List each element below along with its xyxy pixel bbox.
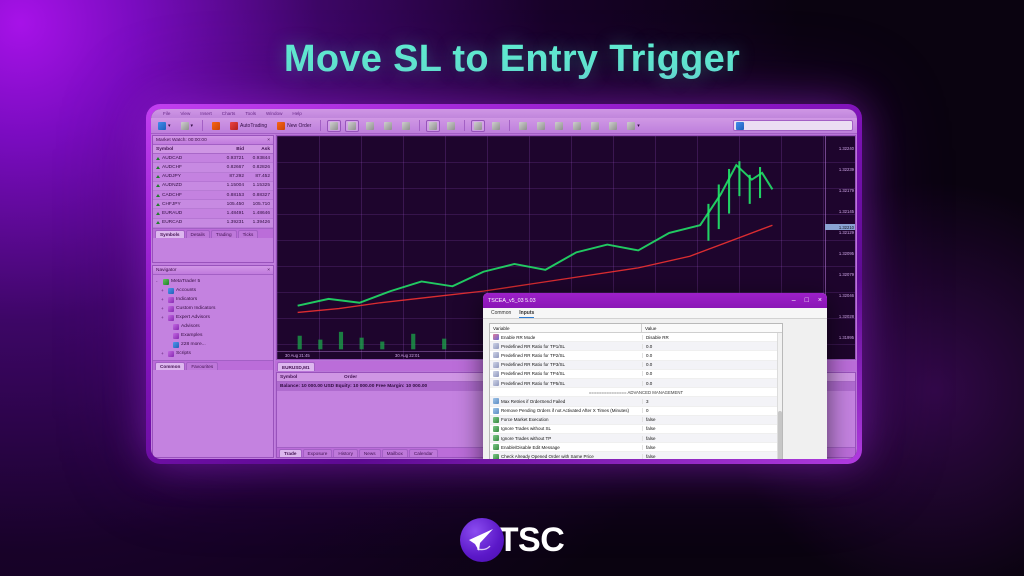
bid-cell: 1.48491 [218,211,244,216]
navigator-root[interactable]: -MetaTrader 5 [156,277,270,286]
navigator-tab-favourites[interactable]: Favourites [186,362,218,370]
type-icon [493,352,499,358]
variable-cell: Predefined RR Ratio for TP1/SL [490,343,642,349]
grid-row[interactable]: Enable RR ModeDisable RR [490,333,782,342]
type-icon [493,343,499,349]
ask-cell: 87.452 [244,174,270,179]
grid-row[interactable]: Predefined RR Ratio for TP2/SL0.0 [490,351,782,360]
variable-label: Enable RR Mode [501,335,535,340]
laptop-frame: FileViewInsertChartsToolsWindowHelp ▾ ▾ … [146,104,862,464]
tsc-logo: TSC [0,518,1024,562]
navigator-tree: -MetaTrader 5+Accounts+Indicators+Custom… [153,275,273,360]
navigator-title-label: Navigator [156,268,177,273]
vertical-line-icon [519,122,527,130]
price-axis: 1.322401.322391.321791.321451.321291.320… [825,136,855,359]
trend-up-icon [156,166,160,169]
variable-cell: Predefined RR Ratio for TP4/SL [490,371,642,377]
trendline-button[interactable] [552,120,566,132]
dialog-title: TSCEA_v5_03 5.03 [488,298,536,304]
dialog-tabs: CommonInputs [483,308,827,319]
market-watch-title-label: Market Watch: 00:00:00 [156,138,207,143]
market-watch-rows: AUDCAD0.937210.93844AUDCHF0.826670.82826… [153,154,273,228]
bar-chart-button[interactable] [327,120,341,132]
time-tick: 30 Aug 22:01 [395,353,420,358]
symbol-cell: AUDCHF [156,165,218,170]
new-order-button[interactable]: New Order [274,120,314,132]
variable-cell: Ignore Trades without SL [490,426,642,432]
variable-label: Predefined RR Ratio for TP2/SL [501,353,565,358]
navigator-item-accounts[interactable]: +Accounts [156,286,270,295]
trend-up-icon [156,221,160,224]
symbol-cell: CHFJPY [156,202,218,207]
autotrading-icon [230,122,238,130]
variable-label: Predefined RR Ratio for TP4/SL [501,371,565,376]
market-watch-tab-trading[interactable]: Trading [211,230,237,238]
variable-label: Enable/Disable Edit Message [501,445,560,450]
zoom-in-icon [384,122,392,130]
paper-plane-icon [460,518,504,562]
chart-icon [158,122,166,130]
time-tick: 30 Aug 21:45 [285,353,310,358]
bar-chart-icon [330,122,338,130]
expand-icon[interactable]: + [161,313,166,322]
column-symbol: Symbol [156,147,218,152]
grid-row[interactable]: Ignore Trades without SLfalse [490,425,782,434]
type-icon [493,444,499,450]
ask-cell: 1.48646 [244,211,270,216]
variable-label: Force Market Execution [501,417,549,422]
market-watch-header: Symbol Bid Ask [153,145,273,154]
grid-rows: Enable RR ModeDisable RRPredefined RR Ra… [490,333,782,459]
variable-cell: Max Retries if OrderSend Failed [490,398,642,404]
dialog-tab-inputs[interactable]: Inputs [519,310,534,318]
autotrading-button[interactable]: AutoTrading [227,120,270,132]
grid-row[interactable]: Remove Pending Orders if not Activated A… [490,407,782,416]
type-icon [493,417,499,423]
variable-label: Ignore Trades without TP [501,436,551,441]
variable-cell: Predefined RR Ratio for TP5/SL [490,380,642,386]
ask-cell: 1.39426 [244,220,270,225]
menu-item-tools[interactable]: Tools [245,111,256,116]
node-icon [168,315,174,321]
trend-up-icon [156,184,160,187]
node-label: Advisors [181,322,200,331]
navigator-item-indicators[interactable]: +Indicators [156,295,270,304]
grid-separator-row[interactable]: =============== ADVANCED MANAGEMENT [490,388,782,397]
node-icon [173,324,179,330]
navigator-tabs: CommonFavourites [153,360,273,370]
value-label: 0.0 [646,381,652,386]
value-label: 0.0 [646,353,652,358]
market-watch-tab-details[interactable]: Details [186,230,210,238]
type-icon [493,454,499,459]
chart-shift-button[interactable] [444,120,458,132]
value-label: false [646,417,656,422]
value-label: 0.0 [646,362,652,367]
vertical-line-button[interactable] [516,120,530,132]
profiles-button[interactable]: ▾ [178,120,197,132]
dialog-tab-common[interactable]: Common [491,310,511,318]
ask-cell: 0.88327 [244,193,270,198]
trendline-icon [555,122,563,130]
market-button[interactable] [209,120,223,132]
trend-up-icon [156,194,160,197]
shapes-button[interactable] [588,120,602,132]
search-input[interactable] [733,120,853,131]
variable-cell: Check Already Opened Order with Same Pri… [490,454,642,459]
node-icon [168,351,174,357]
terminal-tab-mailbox[interactable]: Mailbox [382,449,408,457]
menu-item-file[interactable]: File [163,111,170,116]
terminal-tab-exposure[interactable]: Exposure [303,449,333,457]
toolbar-divider-4 [464,120,465,131]
grid-row[interactable]: Predefined RR Ratio for TP5/SL0.0 [490,379,782,388]
grid-row[interactable]: Enable/Disable Edit Messagefalse [490,443,782,452]
value-cell[interactable]: 0.0 [642,362,782,367]
menu-item-help[interactable]: Help [292,111,301,116]
navigator-tab-common[interactable]: Common [155,362,185,370]
grid-row[interactable]: Ignore Trades without TPfalse [490,434,782,443]
menu-bar: FileViewInsertChartsToolsWindowHelp [151,109,857,118]
type-icon [493,426,499,432]
line-chart-button[interactable] [363,120,377,132]
price-tick: 1.32028 [839,314,854,319]
auto-scroll-icon [429,122,437,130]
value-label: 3 [646,399,649,404]
value-label: false [646,454,656,459]
scrollbar-thumb[interactable] [778,411,782,459]
price-tick: 1.31995 [839,335,854,340]
market-watch-row[interactable]: EURCAD1.392311.39426 [153,219,273,228]
market-watch-row[interactable]: CADCHF0.881530.88327 [153,191,273,200]
value-cell[interactable]: 3 [642,399,782,404]
new-order-icon [277,122,285,130]
window-buttons: – □ × [792,297,822,304]
market-watch-row[interactable]: CHFJPY105.450105.710 [153,200,273,209]
bid-cell: 1.15004 [218,183,244,188]
ask-cell: 105.710 [244,202,270,207]
page-title: Move SL to Entry Trigger [0,38,1024,81]
type-icon [493,398,499,404]
menu-item-insert[interactable]: Insert [200,111,212,116]
navigator-item-228-more[interactable]: 228 more... [156,340,270,349]
cursor-button[interactable] [471,120,485,132]
new-order-label: New Order [287,123,311,129]
value-cell[interactable]: 0 [642,408,782,413]
navigator-item-advisors[interactable]: Advisors [156,322,270,331]
ea-properties-dialog: TSCEA_v5_03 5.03 – □ × CommonInputs Vari… [483,293,827,459]
market-icon [212,122,220,130]
node-label: Expert Advisors [176,313,210,322]
variable-cell: Predefined RR Ratio for TP2/SL [490,352,642,358]
grid-header: Variable Value [490,324,782,333]
variable-label: Predefined RR Ratio for TP5/SL [501,381,565,386]
candlestick-chart-button[interactable] [345,120,359,132]
ask-cell: 0.82826 [244,165,270,170]
bid-cell: 0.82667 [218,165,244,170]
navigator-root-label: MetaTrader 5 [171,277,200,286]
inputs-grid: Variable Value Enable RR ModeDisable RRP… [489,323,783,459]
arrows-button[interactable]: ▾ [624,120,643,132]
variable-cell: Force Market Execution [490,417,642,423]
price-tick: 1.32179 [839,188,854,193]
grid-row[interactable]: Predefined RR Ratio for TP4/SL0.0 [490,370,782,379]
bid-cell: 105.450 [218,202,244,207]
line-chart-icon [366,122,374,130]
navigator-item-expert-advisors[interactable]: +Expert Advisors [156,313,270,322]
zoom-out-icon [402,122,410,130]
auto-scroll-button[interactable] [426,120,440,132]
grid-row[interactable]: Predefined RR Ratio for TP3/SL0.0 [490,361,782,370]
menu-item-charts[interactable]: Charts [222,111,236,116]
value-cell[interactable]: 0.0 [642,353,782,358]
navigator-item-scripts[interactable]: +Scripts [156,349,270,358]
menu-item-view[interactable]: View [180,111,190,116]
arrows-icon [627,122,635,130]
node-icon [168,306,174,312]
variable-label: Max Retries if OrderSend Failed [501,399,565,404]
grid-row[interactable]: Check Already Opened Order with Same Pri… [490,452,782,459]
toolbar-divider-3 [419,120,420,131]
column-bid: Bid [218,147,244,152]
terminal-tab-news[interactable]: News [359,449,381,457]
trend-up-icon [156,157,160,160]
zoom-out-button[interactable] [399,120,413,132]
dialog-title-bar: TSCEA_v5_03 5.03 – □ × [483,293,827,308]
price-tick: 1.32046 [839,293,854,298]
navigator-title: Navigator × [153,266,273,275]
trend-up-icon [156,203,160,206]
market-watch-row[interactable]: AUDNZD1.150041.15325 [153,182,273,191]
dialog-side-buttons: LoadSave [787,323,821,459]
expand-icon[interactable]: + [161,295,166,304]
horizontal-line-icon [537,122,545,130]
node-icon [168,297,174,303]
expand-icon[interactable]: - [156,277,161,286]
value-cell[interactable]: 0.0 [642,381,782,386]
fibonacci-button[interactable] [570,120,584,132]
value-label: Disable RR [646,335,669,340]
close-icon[interactable]: × [267,268,270,273]
screen: FileViewInsertChartsToolsWindowHelp ▾ ▾ … [151,109,857,459]
type-icon [493,408,499,414]
zoom-in-button[interactable] [381,120,395,132]
node-icon [173,342,179,348]
type-icon [493,362,499,368]
variable-cell: Remove Pending Orders if not Activated A… [490,408,642,414]
node-icon [173,333,179,339]
separator-label: =============== ADVANCED MANAGEMENT [490,390,782,395]
minimize-icon[interactable]: – [792,297,796,304]
symbol-cell: AUDCAD [156,156,218,161]
market-watch-row[interactable]: AUDCHF0.826670.82826 [153,163,273,172]
terminal-column-symbol: Symbol [280,375,344,380]
close-icon[interactable]: × [267,138,270,143]
terminal-tab-calendar[interactable]: Calendar [409,449,438,457]
expand-icon[interactable]: + [161,304,166,313]
autotrading-label: AutoTrading [240,123,267,129]
platform-icon [163,279,169,285]
toolbar-divider-2 [320,120,321,131]
terminal-column-order: Order [344,375,434,380]
bid-cell: 1.39231 [218,220,244,225]
value-cell[interactable]: Disable RR [642,335,782,340]
variable-cell: Ignore Trades without TP [490,435,642,441]
toolbar-divider-5 [509,120,510,131]
node-label: Custom Indicators [176,304,215,313]
navigator-item-examples[interactable]: Examples [156,331,270,340]
maximize-icon[interactable]: □ [805,297,809,304]
market-watch-tab-symbols[interactable]: Symbols [155,230,185,238]
current-price-label: 1.32210 [825,224,855,230]
value-cell[interactable]: false [642,445,782,450]
terminal-tab-trade[interactable]: Trade [279,449,302,457]
text-icon [609,122,617,130]
price-tick: 1.32079 [839,272,854,277]
search-icon [736,122,744,130]
candlestick-icon [348,122,356,130]
value-cell[interactable]: 0.0 [642,371,782,376]
horizontal-line-button[interactable] [534,120,548,132]
variable-cell: Enable RR Mode [490,334,642,340]
type-icon [493,334,499,340]
value-label: 0 [646,408,649,413]
market-watch-panel: Market Watch: 00:00:00 × Symbol Bid Ask … [152,135,274,263]
ask-cell: 1.15325 [244,183,270,188]
value-label: 0.0 [646,371,652,376]
bid-cell: 0.88153 [218,193,244,198]
grid-scrollbar[interactable] [777,333,782,459]
variable-cell: Enable/Disable Edit Message [490,444,642,450]
toolbar-divider [202,120,203,131]
value-cell[interactable]: false [642,454,782,459]
value-cell[interactable]: 0.0 [642,344,782,349]
type-icon [493,435,499,441]
grid-row[interactable]: Force Market Executionfalse [490,416,782,425]
variable-label: Remove Pending Orders if not Activated A… [501,408,629,413]
symbol-cell: AUDJPY [156,174,218,179]
logo-text: TSC [498,521,565,560]
variable-label: Check Already Opened Order with Same Pri… [501,454,594,459]
price-tick: 1.32129 [839,230,854,235]
market-watch-row[interactable]: AUDJPY87.29287.452 [153,173,273,182]
price-tick: 1.32240 [839,146,854,151]
cursor-icon [474,122,482,130]
trend-up-icon [156,212,160,215]
grid-column-variable: Variable [490,324,642,332]
expand-icon[interactable]: + [161,349,166,358]
symbol-cell: AUDNZD [156,183,218,188]
crosshair-button[interactable] [489,120,503,132]
shapes-icon [591,122,599,130]
profiles-icon [181,122,189,130]
terminal-tab-history[interactable]: History [333,449,358,457]
bid-cell: 0.93721 [218,156,244,161]
chart-shift-icon [447,122,455,130]
symbol-cell: CADCHF [156,193,218,198]
market-watch-row[interactable]: AUDCAD0.937210.93844 [153,154,273,163]
market-watch-tabs: SymbolsDetailsTradingTicks [153,228,273,238]
value-cell[interactable]: false [642,417,782,422]
type-icon [493,371,499,377]
grid-row[interactable]: Max Retries if OrderSend Failed3 [490,397,782,406]
variable-cell: Predefined RR Ratio for TP3/SL [490,362,642,368]
grid-column-value: Value [642,324,782,332]
dialog-main: Variable Value Enable RR ModeDisable RRP… [483,319,827,459]
close-icon[interactable]: × [818,297,822,304]
node-label: Examples [181,331,202,340]
value-label: 0.0 [646,344,652,349]
column-ask: Ask [244,147,270,152]
crosshair-icon [492,122,500,130]
node-icon [168,288,174,294]
new-chart-button[interactable]: ▾ [155,120,174,132]
value-cell[interactable]: false [642,426,782,431]
node-label: Accounts [176,286,196,295]
price-tick: 1.32145 [839,209,854,214]
left-dock: Market Watch: 00:00:00 × Symbol Bid Ask … [151,134,275,459]
variable-label: Predefined RR Ratio for TP1/SL [501,344,565,349]
toolbar: ▾ ▾ AutoTrading New Order [151,118,857,134]
price-tick: 1.32239 [839,167,854,172]
menu-item-window[interactable]: Window [266,111,282,116]
node-label: Scripts [176,349,191,358]
fibonacci-icon [573,122,581,130]
trend-up-icon [156,175,160,178]
market-watch-row[interactable]: EURAUD1.484911.48646 [153,209,273,218]
node-label: Indicators [176,295,197,304]
variable-label: Predefined RR Ratio for TP3/SL [501,362,565,367]
value-label: false [646,436,656,441]
value-label: false [646,445,656,450]
symbol-cell: EURAUD [156,211,218,216]
value-cell[interactable]: false [642,436,782,441]
variable-label: Ignore Trades without SL [501,426,551,431]
type-icon [493,380,499,386]
price-tick: 1.32095 [839,251,854,256]
chart-tab-eurusd[interactable]: EURUSD,M1 [277,362,315,371]
expand-icon[interactable]: + [161,286,166,295]
navigator-panel: Navigator × -MetaTrader 5+Accounts+Indic… [152,265,274,458]
ask-cell: 0.93844 [244,156,270,161]
symbol-cell: EURCAD [156,220,218,225]
text-button[interactable] [606,120,620,132]
bid-cell: 87.292 [218,174,244,179]
navigator-item-custom-indicators[interactable]: +Custom Indicators [156,304,270,313]
market-watch-title: Market Watch: 00:00:00 × [153,136,273,145]
grid-row[interactable]: Predefined RR Ratio for TP1/SL0.0 [490,342,782,351]
market-watch-tab-ticks[interactable]: Ticks [238,230,259,238]
value-label: false [646,426,656,431]
node-label: 228 more... [181,340,206,349]
